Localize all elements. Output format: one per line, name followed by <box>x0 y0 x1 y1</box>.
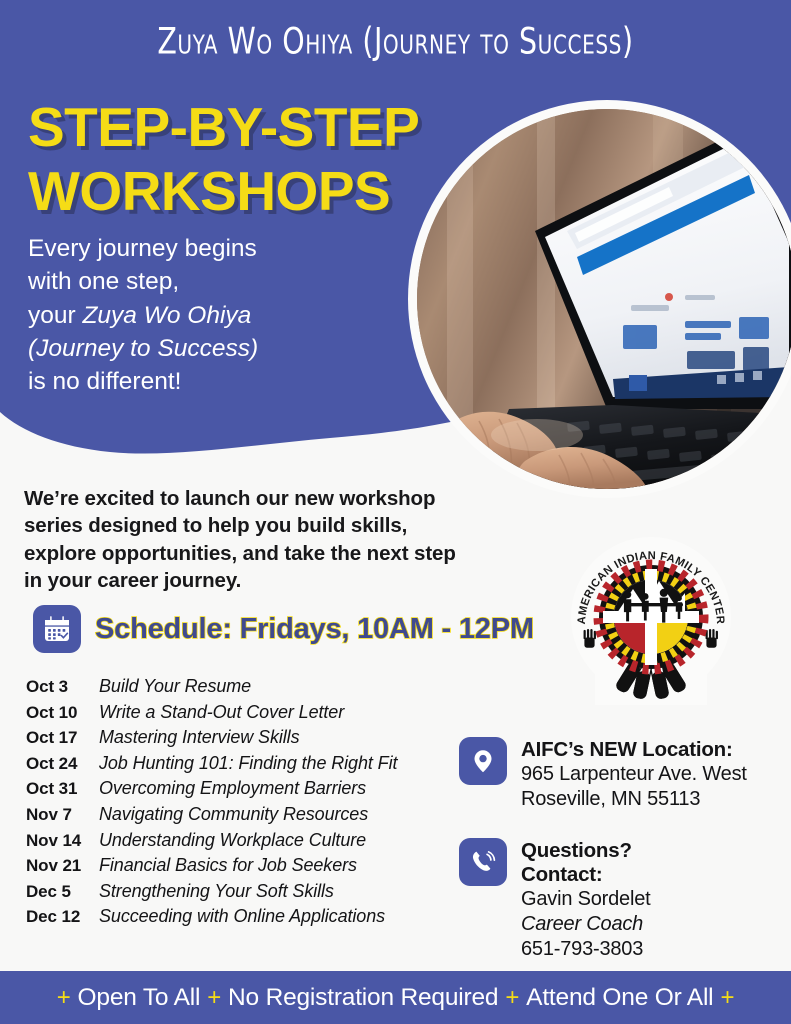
hero-subtitle-line-4: (Journey to Success) <box>28 332 258 365</box>
location-heading: AIFC’s NEW Location: <box>521 738 747 762</box>
schedule-topic: Build Your Resume <box>99 676 251 697</box>
footer-item-3: Attend One Or All <box>526 984 713 1012</box>
schedule-topic: Navigating Community Resources <box>99 804 368 825</box>
headline: STEP-BY-STEP WORKSHOPS <box>28 96 419 224</box>
schedule-row: Dec 12 Succeeding with Online Applicatio… <box>26 906 446 932</box>
contact-name: Gavin Sordelet <box>521 887 651 912</box>
schedule-topic: Write a Stand-Out Cover Letter <box>99 702 344 723</box>
plus-icon: + <box>57 984 71 1012</box>
plus-icon: + <box>720 984 734 1012</box>
schedule-date: Nov 21 <box>26 856 99 876</box>
schedule-row: Oct 3 Build Your Resume <box>26 676 446 702</box>
schedule-topic: Understanding Workplace Culture <box>99 830 366 851</box>
schedule-heading-text: Schedule: Fridays, 10AM - 12PM <box>95 613 534 646</box>
schedule-topic: Financial Basics for Job Seekers <box>99 855 357 876</box>
schedule-heading: Schedule: Fridays, 10AM - 12PM <box>33 605 534 653</box>
map-pin-icon <box>459 737 507 785</box>
logo-medicine-wheel <box>599 565 703 669</box>
location-block: AIFC’s NEW Location: 965 Larpenteur Ave.… <box>459 737 747 811</box>
page-title: Zuya Wo Ohiya (Journey to Success) <box>28 20 764 63</box>
hero-subtitle-line-5: is no different! <box>28 365 258 398</box>
headline-line-1: STEP-BY-STEP <box>28 96 419 158</box>
aifc-logo-graphic: AMERICAN INDIAN FAMILY CENTER <box>565 533 737 705</box>
headline-line-2: WORKSHOPS <box>28 160 419 224</box>
schedule-topic: Succeeding with Online Applications <box>99 906 385 927</box>
schedule-date: Nov 14 <box>26 831 99 851</box>
hero-subtitle-line-3-italic: Zuya Wo Ohiya <box>82 302 251 329</box>
footer-items: + Open To All + No Registration Required… <box>57 984 735 1012</box>
plus-icon: + <box>505 984 519 1012</box>
schedule-row: Nov 7 Navigating Community Resources <box>26 804 446 830</box>
phone-ringing-icon <box>459 838 507 886</box>
hero-subtitle-line-1: Every journey begins <box>28 232 258 265</box>
schedule-list: Oct 3 Build Your Resume Oct 10 Write a S… <box>26 676 446 932</box>
calendar-icon <box>33 605 81 653</box>
hero-subtitle-line-3: your Zuya Wo Ohiya <box>28 299 258 332</box>
footer-banner: + Open To All + No Registration Required… <box>0 969 791 1024</box>
flyer-page: Zuya Wo Ohiya (Journey to Success) STEP-… <box>0 0 791 1024</box>
schedule-row: Nov 14 Understanding Workplace Culture <box>26 830 446 856</box>
schedule-topic: Overcoming Employment Barriers <box>99 778 366 799</box>
schedule-date: Oct 10 <box>26 703 99 723</box>
laptop-typing-photo <box>417 109 791 489</box>
plus-icon: + <box>207 984 221 1012</box>
hero-subtitle-line-2: with one step, <box>28 265 258 298</box>
contact-heading-line-2: Contact: <box>521 863 651 887</box>
schedule-row: Oct 24 Job Hunting 101: Finding the Righ… <box>26 753 446 779</box>
schedule-date: Oct 31 <box>26 779 99 799</box>
schedule-date: Nov 7 <box>26 805 99 825</box>
aifc-logo: AMERICAN INDIAN FAMILY CENTER <box>565 533 737 705</box>
laptop-typing-illustration <box>417 109 791 489</box>
schedule-row: Nov 21 Financial Basics for Job Seekers <box>26 855 446 881</box>
location-address-line-2: Roseville, MN 55113 <box>521 787 747 812</box>
schedule-date: Oct 24 <box>26 754 99 774</box>
schedule-row: Dec 5 Strengthening Your Soft Skills <box>26 881 446 907</box>
schedule-row: Oct 10 Write a Stand-Out Cover Letter <box>26 702 446 728</box>
contact-block: Questions? Contact: Gavin Sordelet Caree… <box>459 838 651 961</box>
contact-text: Questions? Contact: Gavin Sordelet Caree… <box>521 838 651 961</box>
footer-item-1: Open To All <box>78 984 201 1012</box>
schedule-topic: Job Hunting 101: Finding the Right Fit <box>99 753 397 774</box>
schedule-row: Oct 17 Mastering Interview Skills <box>26 727 446 753</box>
location-text: AIFC’s NEW Location: 965 Larpenteur Ave.… <box>521 737 747 811</box>
hero-subtitle: Every journey begins with one step, your… <box>28 232 258 399</box>
location-address-line-1: 965 Larpenteur Ave. West <box>521 762 747 787</box>
hero-photo-frame <box>408 100 791 498</box>
schedule-date: Oct 17 <box>26 728 99 748</box>
schedule-date: Dec 12 <box>26 907 99 927</box>
schedule-topic: Mastering Interview Skills <box>99 727 299 748</box>
schedule-date: Oct 3 <box>26 677 99 697</box>
contact-heading-line-1: Questions? <box>521 839 651 863</box>
contact-role: Career Coach <box>521 912 651 937</box>
hero-subtitle-line-3-plain: your <box>28 302 82 329</box>
schedule-date: Dec 5 <box>26 882 99 902</box>
schedule-row: Oct 31 Overcoming Employment Barriers <box>26 778 446 804</box>
intro-paragraph: We’re excited to launch our new workshop… <box>24 485 470 594</box>
schedule-topic: Strengthening Your Soft Skills <box>99 881 334 902</box>
contact-phone: 651-793-3803 <box>521 937 651 962</box>
footer-item-2: No Registration Required <box>228 984 498 1012</box>
